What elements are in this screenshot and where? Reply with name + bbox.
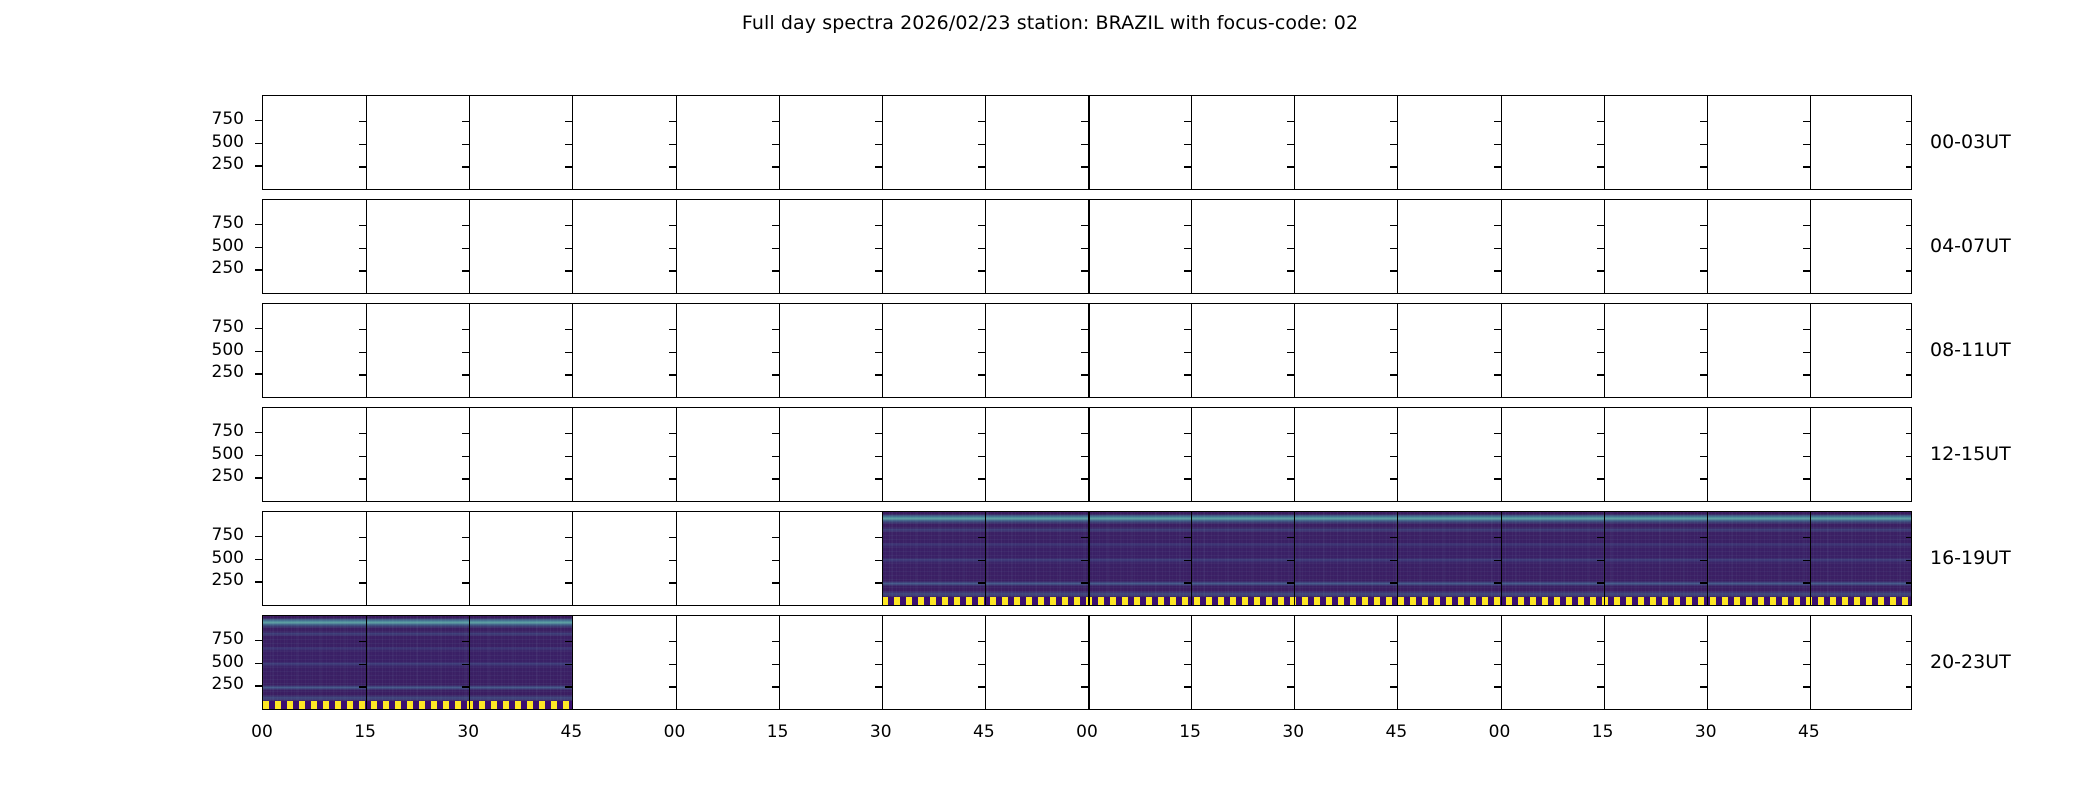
subpanel-divider [366, 96, 367, 189]
spectrogram-panel-08to11[interactable] [262, 303, 1912, 398]
spectrogram-panel-20to23[interactable] [262, 615, 1912, 710]
x-tick-label: 30 [851, 722, 911, 742]
x-tick-label: 15 [1160, 722, 1220, 742]
y-tick-mark-inner [1700, 121, 1707, 122]
y-tick-mark-inner [1390, 166, 1397, 167]
y-tick-mark [255, 685, 262, 686]
subpanel-divider [779, 512, 780, 605]
y-tick-mark-inner [1597, 374, 1604, 375]
y-tick-mark-inner [1081, 664, 1088, 665]
subpanel-divider [779, 408, 780, 501]
y-tick-mark-inner [565, 144, 572, 145]
y-tick-label: 500 [184, 550, 244, 567]
subpanel-divider [676, 96, 678, 189]
subpanel-divider [469, 512, 470, 605]
y-tick-mark-inner [978, 270, 985, 271]
y-tick-mark-inner [1390, 478, 1397, 479]
y-tick-mark-inner [772, 329, 779, 330]
spectral-streaks [882, 512, 1912, 605]
x-tick-label: 00 [232, 722, 292, 742]
y-tick-mark-inner [875, 686, 882, 687]
x-tick-label: 45 [541, 722, 601, 742]
y-tick-mark-inner [772, 456, 779, 457]
y-tick-mark-inner [462, 478, 469, 479]
y-tick-mark-inner [565, 166, 572, 167]
y-tick-mark-inner [1494, 664, 1501, 665]
y-tick-mark-inner [669, 144, 676, 145]
subpanel-divider [469, 96, 470, 189]
y-tick-mark-inner [875, 166, 882, 167]
subpanel-divider [1294, 408, 1295, 501]
subpanel-divider [1191, 96, 1192, 189]
y-tick-label: 500 [184, 446, 244, 463]
y-tick-mark [255, 455, 262, 456]
y-tick-mark-inner [1184, 166, 1191, 167]
spectrogram-panel-04to07[interactable] [262, 199, 1912, 294]
subpanel-divider [572, 304, 573, 397]
y-tick-mark [255, 143, 262, 144]
y-tick-mark-inner [1700, 664, 1707, 665]
y-tick-mark-inner [1700, 456, 1707, 457]
y-tick-mark-inner [875, 248, 882, 249]
y-tick-mark-inner [565, 374, 572, 375]
y-tick-mark-inner [1184, 664, 1191, 665]
y-tick-mark-inner [875, 537, 882, 538]
y-tick-mark-inner [359, 478, 366, 479]
y-tick-mark-inner [1184, 456, 1191, 457]
y-tick-mark-inner [359, 225, 366, 226]
y-tick-mark-inner [772, 121, 779, 122]
y-tick-mark-inner [1184, 686, 1191, 687]
y-tick-mark [255, 581, 262, 582]
y-tick-mark-inner [1700, 352, 1707, 353]
y-tick-mark-inner [978, 374, 985, 375]
y-tick-mark-inner [1081, 121, 1088, 122]
subpanel-divider [1088, 304, 1090, 397]
y-tick-mark [255, 559, 262, 560]
y-tick-mark-inner [462, 456, 469, 457]
y-tick-mark-inner [565, 433, 572, 434]
y-tick-mark-inner [565, 537, 572, 538]
y-tick-mark-inner [875, 270, 882, 271]
subpanel-divider [985, 304, 986, 397]
y-tick-mark [255, 247, 262, 248]
y-tick-mark-inner [1287, 456, 1294, 457]
spectrogram-grid [262, 95, 1912, 710]
x-tick-label: 15 [748, 722, 808, 742]
y-tick-mark-inner [359, 144, 366, 145]
y-tick-label: 250 [184, 572, 244, 589]
subpanel-divider [1397, 96, 1398, 189]
y-tick-mark-inner [359, 329, 366, 330]
y-tick-mark-inner [1494, 433, 1501, 434]
y-tick-mark-inner [1184, 270, 1191, 271]
y-tick-mark-inner [565, 560, 572, 561]
y-tick-mark-inner [1906, 478, 1912, 479]
subpanel-divider [676, 304, 678, 397]
y-tick-label: 250 [184, 260, 244, 277]
saturation-band [263, 701, 572, 709]
y-tick-mark-inner [772, 664, 779, 665]
y-tick-mark-inner [1906, 329, 1912, 330]
y-tick-mark-inner [669, 121, 676, 122]
y-tick-mark-inner [1184, 433, 1191, 434]
y-tick-mark-inner [1597, 456, 1604, 457]
y-tick-mark [255, 120, 262, 121]
y-tick-mark-inner [462, 225, 469, 226]
subpanel-divider [985, 616, 986, 709]
y-tick-mark-inner [1803, 270, 1810, 271]
y-tick-mark-inner [1597, 144, 1604, 145]
y-tick-label: 750 [184, 111, 244, 128]
y-tick-mark-inner [1287, 144, 1294, 145]
y-tick-mark-inner [669, 560, 676, 561]
y-tick-mark-inner [359, 456, 366, 457]
y-tick-mark-inner [978, 329, 985, 330]
y-tick-mark-inner [669, 478, 676, 479]
subpanel-divider [572, 408, 573, 501]
y-tick-mark-inner [1906, 166, 1912, 167]
y-tick-label: 750 [184, 423, 244, 440]
y-tick-mark-inner [875, 582, 882, 583]
y-tick-mark-inner [1287, 270, 1294, 271]
y-tick-mark-inner [359, 433, 366, 434]
y-tick-mark-inner [1287, 478, 1294, 479]
subpanel-divider [1810, 408, 1811, 501]
x-tick-label: 00 [645, 722, 705, 742]
subpanel-divider [676, 408, 678, 501]
y-tick-mark-inner [1184, 248, 1191, 249]
y-tick-mark-inner [1597, 270, 1604, 271]
subpanel-divider [572, 616, 573, 709]
row-label-12to15: 12-15UT [1930, 443, 2100, 465]
y-tick-mark-inner [978, 686, 985, 687]
y-tick-mark-inner [1081, 686, 1088, 687]
y-tick-mark-inner [978, 166, 985, 167]
subpanel-divider [1294, 616, 1295, 709]
y-tick-mark-inner [1081, 270, 1088, 271]
y-tick-mark-inner [359, 121, 366, 122]
subpanel-divider [1294, 200, 1295, 293]
subpanel-divider [1707, 304, 1708, 397]
y-tick-mark-inner [1184, 352, 1191, 353]
y-tick-mark-inner [772, 270, 779, 271]
x-tick-label: 30 [1676, 722, 1736, 742]
y-tick-mark-inner [875, 225, 882, 226]
y-tick-mark-inner [669, 248, 676, 249]
subpanel-divider [1501, 408, 1503, 501]
y-tick-mark-inner [978, 478, 985, 479]
y-tick-mark-inner [1390, 144, 1397, 145]
y-tick-mark-inner [359, 560, 366, 561]
subpanel-divider [366, 408, 367, 501]
row-label-16to19: 16-19UT [1930, 547, 2100, 569]
subpanel-divider [882, 616, 883, 709]
subpanel-divider [1088, 200, 1090, 293]
y-tick-mark-inner [978, 641, 985, 642]
y-tick-mark-inner [1906, 225, 1912, 226]
y-tick-mark-inner [359, 537, 366, 538]
subpanel-divider [1397, 408, 1398, 501]
y-tick-label: 250 [184, 468, 244, 485]
subpanel-divider [469, 304, 470, 397]
y-tick-mark-inner [1494, 121, 1501, 122]
x-tick-label: 00 [1470, 722, 1530, 742]
y-tick-mark-inner [772, 166, 779, 167]
spectra-data-16to19 [882, 512, 1912, 605]
y-tick-mark [255, 351, 262, 352]
y-tick-mark-inner [1803, 456, 1810, 457]
y-tick-mark-inner [1906, 686, 1912, 687]
y-tick-mark-inner [1700, 433, 1707, 434]
y-tick-mark-inner [669, 166, 676, 167]
subpanel-divider [676, 200, 678, 293]
y-tick-mark-inner [1906, 121, 1912, 122]
y-tick-mark-inner [565, 329, 572, 330]
y-tick-mark-inner [462, 374, 469, 375]
y-tick-mark-inner [875, 352, 882, 353]
subpanel-divider [1707, 96, 1708, 189]
y-tick-mark-inner [1184, 478, 1191, 479]
y-tick-mark [255, 328, 262, 329]
y-tick-mark-inner [875, 121, 882, 122]
y-tick-mark-inner [772, 144, 779, 145]
x-tick-label: 15 [335, 722, 395, 742]
y-tick-mark-inner [772, 537, 779, 538]
y-tick-mark-inner [1597, 248, 1604, 249]
y-tick-mark-inner [669, 537, 676, 538]
subpanel-divider [985, 96, 986, 189]
y-tick-mark-inner [1184, 225, 1191, 226]
subpanel-divider [366, 200, 367, 293]
y-tick-mark-inner [875, 641, 882, 642]
spectrogram-panel-00to03[interactable] [262, 95, 1912, 190]
y-tick-mark-inner [772, 225, 779, 226]
y-tick-mark-inner [1803, 144, 1810, 145]
y-tick-mark-inner [669, 664, 676, 665]
y-tick-mark-inner [565, 270, 572, 271]
y-tick-mark-inner [1390, 225, 1397, 226]
x-tick-label: 30 [438, 722, 498, 742]
y-tick-mark-inner [462, 144, 469, 145]
subpanel-divider [1397, 200, 1398, 293]
subpanel-divider [1501, 616, 1503, 709]
y-tick-mark-inner [1390, 664, 1397, 665]
y-tick-mark-inner [1081, 478, 1088, 479]
y-tick-mark-inner [1081, 248, 1088, 249]
y-tick-mark-inner [1390, 686, 1397, 687]
y-tick-mark-inner [462, 560, 469, 561]
y-tick-mark-inner [978, 433, 985, 434]
y-tick-mark-inner [462, 329, 469, 330]
y-tick-mark-inner [1184, 144, 1191, 145]
y-tick-mark-inner [1700, 686, 1707, 687]
y-tick-mark-inner [359, 582, 366, 583]
subpanel-divider [779, 616, 780, 709]
subpanel-divider [1088, 96, 1090, 189]
y-tick-mark-inner [462, 433, 469, 434]
subpanel-divider [1810, 304, 1811, 397]
y-tick-mark-inner [978, 121, 985, 122]
y-tick-mark-inner [1906, 456, 1912, 457]
y-tick-mark-inner [462, 270, 469, 271]
spectral-streaks [263, 616, 572, 709]
y-tick-label: 750 [184, 319, 244, 336]
y-tick-mark-inner [1494, 374, 1501, 375]
y-tick-mark-inner [1597, 225, 1604, 226]
x-tick-label: 45 [1779, 722, 1839, 742]
y-tick-mark-inner [669, 686, 676, 687]
y-tick-mark-inner [772, 582, 779, 583]
y-tick-mark-inner [462, 537, 469, 538]
y-tick-mark-inner [1287, 664, 1294, 665]
y-tick-mark [255, 663, 262, 664]
subpanel-divider [366, 304, 367, 397]
spectrogram-panel-16to19[interactable] [262, 511, 1912, 606]
y-tick-mark-inner [359, 248, 366, 249]
subpanel-divider [572, 512, 573, 605]
y-tick-mark-inner [1700, 248, 1707, 249]
y-tick-mark-inner [1081, 329, 1088, 330]
y-tick-mark-inner [1184, 374, 1191, 375]
subpanel-divider [1604, 616, 1605, 709]
y-tick-mark-inner [875, 329, 882, 330]
y-tick-mark-inner [1700, 478, 1707, 479]
y-tick-mark-inner [462, 121, 469, 122]
y-tick-mark-inner [875, 664, 882, 665]
y-tick-mark-inner [669, 374, 676, 375]
y-tick-mark-inner [1597, 121, 1604, 122]
y-tick-mark-inner [1081, 144, 1088, 145]
x-tick-label: 00 [1057, 722, 1117, 742]
y-tick-mark-inner [1390, 433, 1397, 434]
subpanel-divider [882, 96, 883, 189]
y-tick-mark-inner [1494, 641, 1501, 642]
y-tick-mark-inner [669, 641, 676, 642]
spectra-data-20to23 [263, 616, 572, 709]
y-tick-mark-inner [1597, 166, 1604, 167]
y-tick-mark-inner [1906, 270, 1912, 271]
y-tick-mark-inner [669, 352, 676, 353]
y-tick-mark-inner [978, 144, 985, 145]
y-tick-label: 750 [184, 527, 244, 544]
y-tick-mark-inner [1494, 329, 1501, 330]
y-tick-mark-inner [1390, 329, 1397, 330]
y-tick-mark-inner [565, 225, 572, 226]
subpanel-divider [1707, 616, 1708, 709]
y-tick-mark-inner [1700, 641, 1707, 642]
subpanel-divider [1191, 200, 1192, 293]
y-tick-mark-inner [565, 456, 572, 457]
y-tick-mark-inner [1700, 166, 1707, 167]
y-tick-mark-inner [1390, 374, 1397, 375]
y-tick-mark-inner [1906, 664, 1912, 665]
subpanel-divider [985, 200, 986, 293]
y-tick-mark-inner [1494, 478, 1501, 479]
y-tick-mark-inner [772, 560, 779, 561]
subpanel-divider [676, 512, 678, 605]
x-axis: 00153045001530450015304500153045 [262, 710, 1922, 750]
y-tick-label: 500 [184, 342, 244, 359]
y-tick-mark-inner [462, 352, 469, 353]
y-tick-mark-inner [1184, 641, 1191, 642]
subpanel-divider [469, 408, 470, 501]
y-tick-mark-inner [1184, 121, 1191, 122]
x-tick-label: 15 [1573, 722, 1633, 742]
subpanel-divider [882, 304, 883, 397]
y-tick-mark-inner [1390, 352, 1397, 353]
y-tick-mark-inner [1287, 686, 1294, 687]
y-tick-mark [255, 640, 262, 641]
subpanel-divider [985, 408, 986, 501]
y-tick-mark-inner [1390, 248, 1397, 249]
subpanel-divider [469, 200, 470, 293]
subpanel-divider [1191, 616, 1192, 709]
subpanel-divider [1604, 408, 1605, 501]
y-tick-label: 500 [184, 654, 244, 671]
saturation-band [882, 597, 1912, 605]
y-tick-mark-inner [565, 121, 572, 122]
y-tick-mark-inner [1803, 641, 1810, 642]
y-tick-mark-inner [1700, 144, 1707, 145]
y-tick-mark [255, 432, 262, 433]
y-tick-mark-inner [875, 433, 882, 434]
y-tick-mark-inner [1700, 374, 1707, 375]
subpanel-divider [366, 512, 367, 605]
subpanel-divider [572, 96, 573, 189]
y-tick-mark [255, 536, 262, 537]
row-label-20to23: 20-23UT [1930, 651, 2100, 673]
y-tick-mark-inner [875, 456, 882, 457]
subpanel-divider [1810, 96, 1811, 189]
y-tick-mark-inner [1906, 641, 1912, 642]
y-tick-mark [255, 224, 262, 225]
subpanel-divider [676, 616, 678, 709]
y-tick-label: 250 [184, 676, 244, 693]
y-tick-mark-inner [1287, 166, 1294, 167]
y-tick-label: 750 [184, 631, 244, 648]
subpanel-divider [1707, 408, 1708, 501]
subpanel-divider [1191, 304, 1192, 397]
y-tick-mark-inner [1803, 433, 1810, 434]
y-tick-mark-inner [1803, 664, 1810, 665]
subpanel-divider [882, 200, 883, 293]
y-tick-mark-inner [1287, 248, 1294, 249]
y-tick-mark-inner [1803, 166, 1810, 167]
y-tick-mark-inner [1803, 374, 1810, 375]
y-tick-mark-inner [669, 329, 676, 330]
y-tick-mark-inner [1700, 270, 1707, 271]
y-tick-mark-inner [1803, 329, 1810, 330]
y-tick-mark-inner [1287, 374, 1294, 375]
y-tick-mark-inner [1287, 352, 1294, 353]
y-tick-mark-inner [875, 144, 882, 145]
y-tick-mark-inner [1390, 121, 1397, 122]
spectrogram-panel-12to15[interactable] [262, 407, 1912, 502]
subpanel-divider [1604, 304, 1605, 397]
subpanel-divider [572, 200, 573, 293]
y-tick-mark-inner [1390, 641, 1397, 642]
y-tick-mark-inner [1287, 641, 1294, 642]
y-tick-mark-inner [1184, 329, 1191, 330]
y-tick-label: 250 [184, 364, 244, 381]
subpanel-divider [1604, 96, 1605, 189]
y-tick-mark-inner [772, 641, 779, 642]
y-tick-mark-inner [1081, 456, 1088, 457]
y-tick-mark-inner [565, 582, 572, 583]
y-tick-mark-inner [1597, 352, 1604, 353]
y-tick-mark-inner [1906, 144, 1912, 145]
